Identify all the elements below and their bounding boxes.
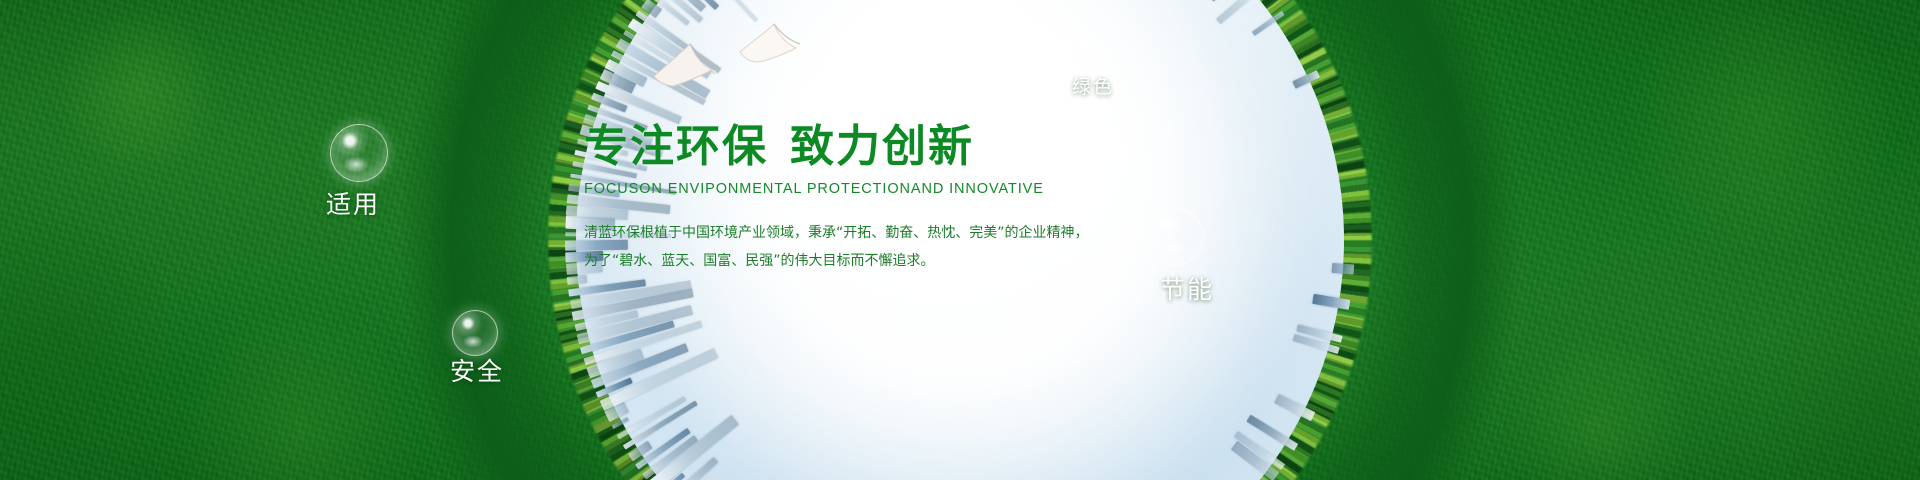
bubble-icon-lvse [1070,34,1112,76]
feature-label-anquan: 安全 [450,352,504,388]
hero-copy: 专注环保致力创新 FOCUSON ENVIPONMENTAL PROTECTIO… [584,124,1284,275]
feature-label-shiyong: 适用 [326,185,380,221]
headline-part-1: 专注环保 [584,121,768,172]
feature-label-lvse: 绿色 [1072,72,1114,99]
feature-label-jieneng: 节能 [1160,270,1214,306]
eco-hero-banner: 适用 安全 绿色 节能 专注环保致力创新 FOCUSON ENVIPONMENT… [0,0,1920,480]
headline-part-2: 致力创新 [790,121,974,172]
body-line-2: 为了“碧水、蓝天、国富、民强”的伟大目标而不懈追求。 [584,247,1284,275]
bubble-icon-shiyong [330,124,388,182]
body-line-1: 清蓝环保根植于中国环境产业领域，秉承“开拓、勤奋、热忱、完美”的企业精神， [584,219,1284,247]
body-paragraph: 清蓝环保根植于中国环境产业领域，秉承“开拓、勤奋、热忱、完美”的企业精神， 为了… [584,219,1284,275]
bubble-icon-anquan [452,310,498,356]
subtitle-english: FOCUSON ENVIPONMENTAL PROTECTIONAND INNO… [584,181,1284,197]
page-title: 专注环保致力创新 [584,124,1284,170]
bird-icon [736,18,812,72]
bird-icon [648,36,732,94]
